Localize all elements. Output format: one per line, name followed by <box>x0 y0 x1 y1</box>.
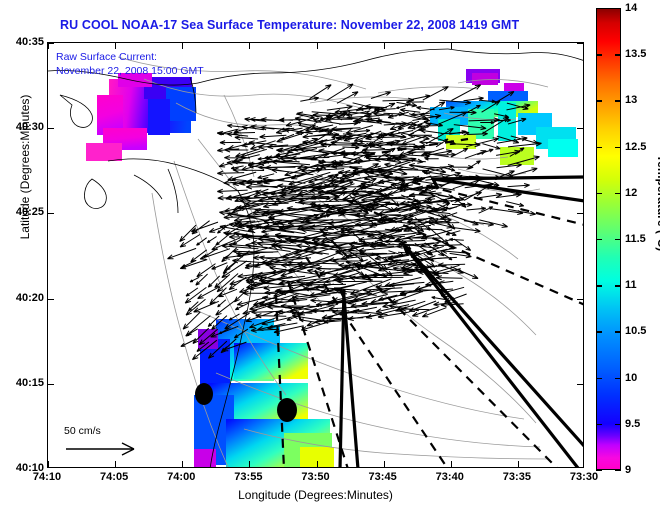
x-tick <box>384 43 385 49</box>
y-tick-label: 40:20 <box>16 292 44 304</box>
x-tick-label: 73:30 <box>570 471 598 483</box>
figure-title: RU COOL NOAA-17 Sea Surface Temperature:… <box>60 18 580 32</box>
x-tick-label: 73:40 <box>436 471 464 483</box>
station-marker <box>277 398 297 422</box>
colorbar-tick-label: 13 <box>625 94 637 106</box>
colorbar-tick <box>615 193 621 194</box>
colorbar-tick <box>615 100 621 101</box>
colorbar-tick-label: 11 <box>625 279 637 291</box>
y-tick-label: 40:10 <box>16 462 44 474</box>
colorbar-tick <box>596 285 602 286</box>
colorbar-tick-label: 9 <box>625 464 631 476</box>
annotation-line-1: Raw Surface Current: <box>56 51 157 63</box>
map-canvas: Raw Surface Current: November 22, 2008 1… <box>48 43 583 467</box>
station-markers-layer <box>48 43 584 468</box>
x-tick <box>384 461 385 467</box>
colorbar-tick <box>615 147 621 148</box>
colorbar-tick <box>596 100 602 101</box>
x-tick-label: 73:45 <box>369 471 397 483</box>
x-tick-label: 74:00 <box>167 471 195 483</box>
colorbar-tick <box>615 424 621 425</box>
x-tick-label: 74:05 <box>100 471 128 483</box>
colorbar-tick <box>615 470 621 471</box>
colorbar-tick-label: 12 <box>625 187 637 199</box>
x-tick <box>317 43 318 49</box>
colorbar-tick <box>615 8 621 9</box>
colorbar-tick <box>615 285 621 286</box>
colorbar-tick <box>596 424 602 425</box>
x-tick <box>451 43 452 49</box>
colorbar-tick <box>596 193 602 194</box>
x-tick <box>48 461 49 467</box>
y-tick <box>577 384 583 385</box>
colorbar-tick-label: 12.5 <box>625 141 646 153</box>
colorbar-tick-label: 13.5 <box>625 48 646 60</box>
colorbar-tick <box>596 378 602 379</box>
x-tick <box>182 43 183 49</box>
scale-label: 50 cm/s <box>64 425 142 437</box>
sst-map-figure: RU COOL NOAA-17 Sea Surface Temperature:… <box>0 0 660 519</box>
colorbar-tick <box>596 54 602 55</box>
colorbar-tick <box>615 239 621 240</box>
colorbar-tick-label: 14 <box>625 2 637 14</box>
y-tick <box>48 128 54 129</box>
x-tick <box>518 43 519 49</box>
colorbar-tick <box>596 331 602 332</box>
annotation-line-2: November 22, 2008 15:00 GMT <box>56 65 204 77</box>
colorbar-tick <box>596 239 602 240</box>
y-tick <box>577 43 583 44</box>
y-tick <box>48 43 54 44</box>
y-tick <box>577 213 583 214</box>
colorbar-tick <box>596 470 602 471</box>
x-tick <box>115 461 116 467</box>
colorbar-tick <box>615 331 621 332</box>
x-tick-label: 73:50 <box>301 471 329 483</box>
colorbar-tick <box>615 378 621 379</box>
y-tick <box>48 384 54 385</box>
y-tick-label: 40:15 <box>16 377 44 389</box>
y-axis-title: Latitude (Degrees:Minutes) <box>18 67 32 267</box>
y-tick <box>48 299 54 300</box>
x-axis-title: Longitude (Degrees:Minutes) <box>47 488 584 502</box>
map-plot-area: Raw Surface Current: November 22, 2008 1… <box>47 42 584 468</box>
y-tick <box>577 299 583 300</box>
y-tick <box>48 213 54 214</box>
x-tick-label: 73:55 <box>234 471 262 483</box>
colorbar-tick <box>596 147 602 148</box>
y-tick-label: 40:35 <box>16 36 44 48</box>
colorbar-tick <box>596 8 602 9</box>
colorbar-tick-label: 10 <box>625 372 637 384</box>
x-tick <box>115 43 116 49</box>
x-tick <box>249 461 250 467</box>
y-tick <box>577 128 583 129</box>
x-tick <box>249 43 250 49</box>
x-tick <box>518 461 519 467</box>
colorbar-tick <box>615 54 621 55</box>
x-tick-label: 73:35 <box>503 471 531 483</box>
x-tick <box>182 461 183 467</box>
scale-arrow-icon <box>64 440 142 456</box>
colorbar <box>596 8 621 470</box>
x-tick <box>317 461 318 467</box>
station-marker <box>195 383 213 405</box>
colorbar-title: Temperature (°C) <box>655 123 660 283</box>
colorbar-tick-label: 10.5 <box>625 325 646 337</box>
velocity-scale-legend: 50 cm/s <box>64 425 142 461</box>
x-tick <box>451 461 452 467</box>
colorbar-tick-label: 9.5 <box>625 418 640 430</box>
colorbar-tick-label: 11.5 <box>625 233 646 245</box>
